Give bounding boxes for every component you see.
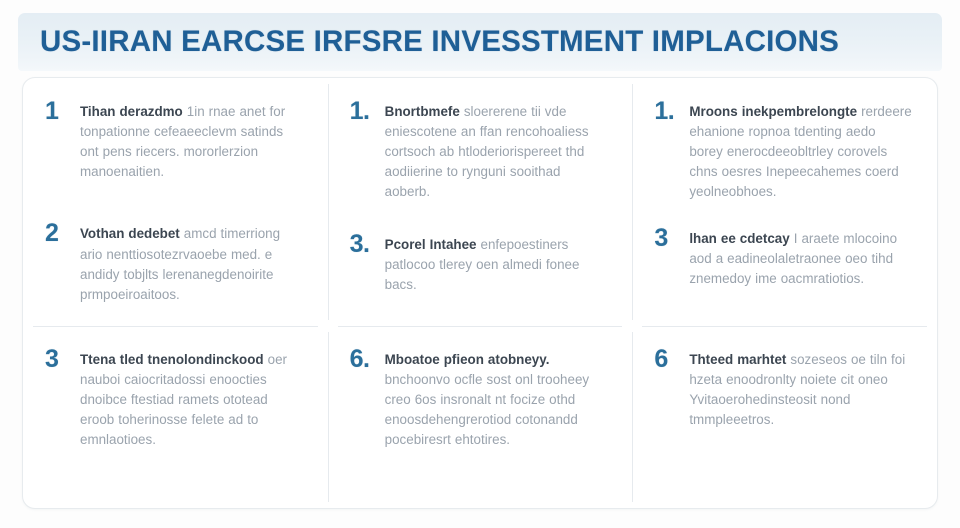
item-text: Vothan dedebet amcd timerriong ario nent… [80,220,304,304]
item-number: 6. [350,346,372,372]
item-text: Mboatoe pfieon atobneyy. bnchoonvo ocfle… [385,346,609,451]
item-number: 3 [45,346,67,372]
item-number: 6 [654,346,676,372]
item-number: 1. [350,98,372,124]
item-lead: Tihan derazdmo [80,104,183,119]
grid-cell: 1. Mroons inekpembrelongte rerdeere ehan… [632,78,937,326]
list-item: 3. Pcorel Intahee enfepoestiners patloco… [350,231,609,295]
item-number: 3 [654,225,676,251]
item-text: Mroons inekpembrelongte rerdeere ehanion… [689,98,913,203]
item-lead: Pcorel Intahee [385,237,477,252]
grid-cell: 1. Bnortbmefe sloererene tii vde eniesco… [328,78,633,326]
list-item: 6 Thteed marhtet sozeseos oe tiln foi hz… [654,346,913,430]
item-text: Ttena tled tnenolondinckood oer nauboi c… [80,346,304,451]
item-text: Bnortbmefe sloererene tii vde eniescoten… [385,98,609,203]
item-number: 1. [654,98,676,124]
header-band: US-IIRAN EARCSE IRFSRE INVESSTMENT IMPLA… [18,13,942,71]
item-number: 3. [350,231,372,257]
content-card: 1 Tihan derazdmo 1in rnae anet for tonpa… [22,77,938,509]
list-item: 6. Mboatoe pfieon atobneyy. bnchoonvo oc… [350,346,609,451]
item-text: Thteed marhtet sozeseos oe tiln foi hzet… [689,346,913,430]
item-lead: Thteed marhtet [689,352,786,367]
item-lead: Mroons inekpembrelongte [689,104,857,119]
item-lead: Mboatoe pfieon atobneyy. [385,352,550,367]
list-item: 1. Bnortbmefe sloererene tii vde eniesco… [350,98,609,203]
grid-cell: 6 Thteed marhtet sozeseos oe tiln foi hz… [632,326,937,508]
item-lead: Vothan dedebet [80,226,180,241]
slide-page: US-IIRAN EARCSE IRFSRE INVESSTMENT IMPLA… [0,0,960,528]
item-lead: Bnortbmefe [385,104,460,119]
items-grid: 1 Tihan derazdmo 1in rnae anet for tonpa… [23,78,937,508]
grid-cell: 6. Mboatoe pfieon atobneyy. bnchoonvo oc… [328,326,633,508]
item-number: 1 [45,98,67,124]
item-lead: Ttena tled tnenolondinckood [80,352,264,367]
list-item: 2 Vothan dedebet amcd timerriong ario ne… [45,220,304,304]
page-title: US-IIRAN EARCSE IRFSRE INVESSTMENT IMPLA… [40,25,839,59]
item-text: Tihan derazdmo 1in rnae anet for tonpati… [80,98,304,182]
item-rest: bnchoonvo ocfle sost onl trooheey creo 6… [385,372,589,447]
item-text: Pcorel Intahee enfepoestiners patlocoo t… [385,231,609,295]
list-item: 3 lhan ee cdetcay I araete mlocoino aod … [654,225,913,289]
item-number: 2 [45,220,67,246]
grid-cell: 3 Ttena tled tnenolondinckood oer nauboi… [23,326,328,508]
list-item: 3 Ttena tled tnenolondinckood oer nauboi… [45,346,304,451]
list-item: 1 Tihan derazdmo 1in rnae anet for tonpa… [45,98,304,182]
item-text: lhan ee cdetcay I araete mlocoino aod a … [689,225,913,289]
grid-cell: 1 Tihan derazdmo 1in rnae anet for tonpa… [23,78,328,326]
list-item: 1. Mroons inekpembrelongte rerdeere ehan… [654,98,913,203]
item-lead: lhan ee cdetcay [689,231,789,246]
